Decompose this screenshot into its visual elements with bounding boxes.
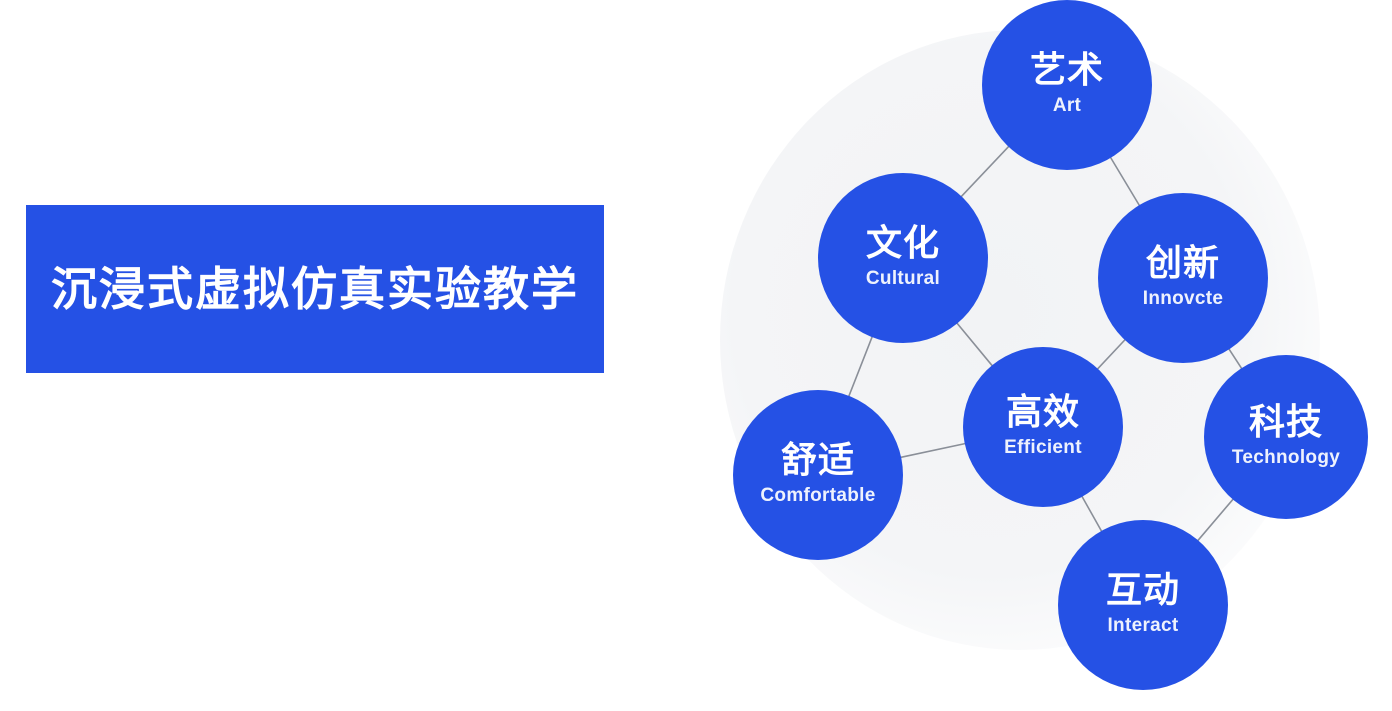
node-label-cn: 艺术 (1030, 52, 1104, 91)
connector-innovate-efficient (1096, 338, 1126, 370)
connector-interact-efficient (1081, 495, 1102, 533)
node-technology[interactable]: 科技Technology (1204, 355, 1368, 519)
node-cultural[interactable]: 文化Cultural (818, 173, 988, 343)
node-label-cn: 高效 (1006, 394, 1080, 433)
node-interact[interactable]: 互动Interact (1058, 520, 1228, 690)
connector-technology-interact (1197, 498, 1234, 542)
node-label-en: Efficient (1004, 437, 1082, 460)
title-banner: 沉浸式虚拟仿真实验教学 (26, 205, 604, 373)
node-label-en: Art (1053, 95, 1081, 118)
node-label-en: Cultural (866, 268, 940, 291)
node-efficient[interactable]: 高效Efficient (963, 347, 1123, 507)
node-label-cn: 科技 (1249, 404, 1323, 443)
node-label-cn: 创新 (1146, 245, 1220, 284)
node-label-cn: 舒适 (781, 442, 855, 481)
connector-art-innovate (1110, 156, 1140, 207)
connector-art-cultural (960, 145, 1010, 198)
node-comfortable[interactable]: 舒适Comfortable (733, 390, 903, 560)
node-innovate[interactable]: 创新Innovcte (1098, 193, 1268, 363)
node-art[interactable]: 艺术Art (982, 0, 1152, 170)
node-label-en: Technology (1232, 447, 1340, 470)
page-title: 沉浸式虚拟仿真实验教学 (51, 266, 579, 312)
node-label-cn: 文化 (866, 225, 940, 264)
connector-innovate-technology (1228, 348, 1242, 370)
slide-canvas: 沉浸式虚拟仿真实验教学 艺术Art文化Cultural创新Innovcte科技T… (0, 0, 1392, 711)
connector-efficient-comfortable (899, 443, 967, 457)
node-label-cn: 互动 (1106, 572, 1180, 611)
connector-efficient-cultural (956, 322, 993, 367)
node-label-en: Interact (1107, 615, 1178, 638)
connector-cultural-comfortable (848, 335, 872, 397)
node-label-en: Innovcte (1143, 288, 1224, 311)
concept-network-diagram: 艺术Art文化Cultural创新Innovcte科技Technology高效E… (660, 0, 1392, 711)
node-label-en: Comfortable (760, 485, 875, 508)
